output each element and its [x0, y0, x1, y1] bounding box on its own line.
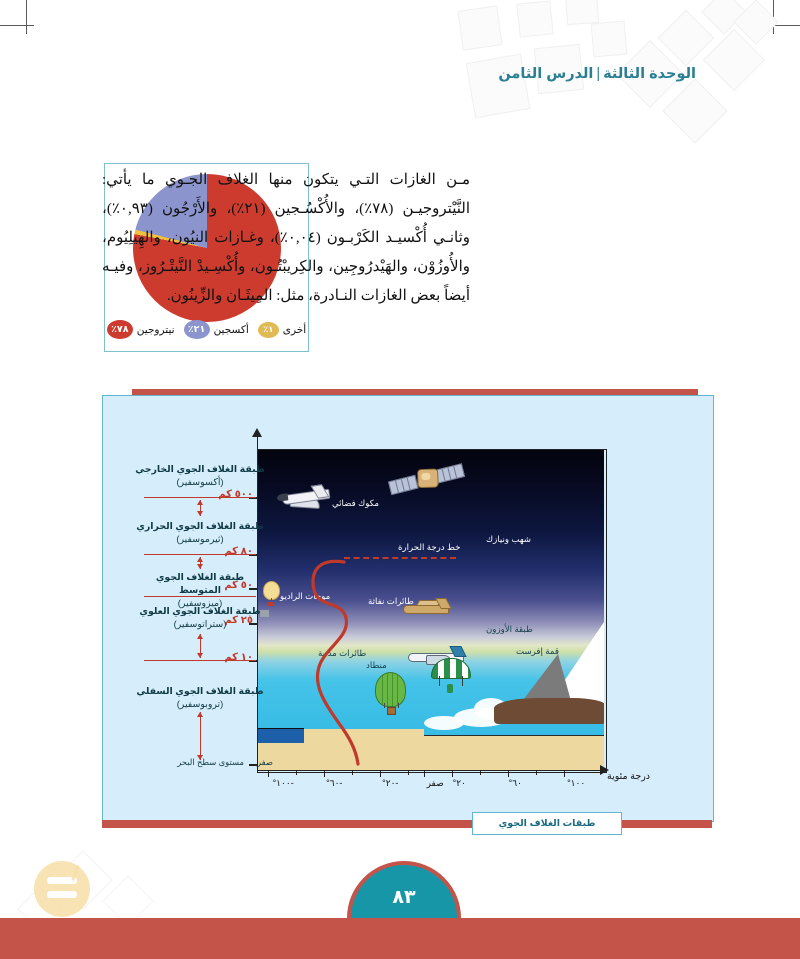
- layer-thermosphere-name: طبقة الغلاف الجوي الحراري: [134, 519, 266, 532]
- x-tick-minor-1: [296, 770, 297, 775]
- x-tick-1: [324, 770, 325, 777]
- x-tick-minor-5: [480, 770, 481, 775]
- x-tick-label-2: -٢٠°: [382, 778, 398, 789]
- x-tick-6: [564, 770, 565, 777]
- legend-dot-oxygen: ٢١٪: [184, 320, 210, 339]
- page-header: الوحدة الثالثة|الدرس الثامن: [498, 66, 696, 82]
- layer-divider-2: [144, 554, 256, 555]
- legend-dot-nitrogen: ٧٨٪: [107, 320, 133, 339]
- layer-stratosphere: طبقة الغلاف الجوي العلوي (ستراتوسفير): [134, 604, 266, 630]
- x-tick-minor-2: [352, 770, 353, 775]
- layer-divider-3: [144, 596, 256, 597]
- crop-mark-top-left-v: [26, 0, 27, 34]
- x-tick-5: [508, 770, 509, 777]
- footer-bar: [0, 918, 800, 959]
- legend-label-oxygen: أكسجين: [214, 324, 249, 336]
- x-tick-4: [452, 770, 453, 777]
- legend-item-other: أخرى ١٪: [258, 322, 306, 338]
- figure-caption-text: طبقات الغلاف الجوي: [499, 818, 596, 829]
- header-unit: الوحدة الثالثة: [603, 66, 696, 82]
- y-axis-arrow: [252, 428, 262, 437]
- x-tick-minor-3: [408, 770, 409, 775]
- x-tick-0: [268, 770, 269, 777]
- crop-mark-top-right: [766, 25, 800, 26]
- x-tick-label-6: ١٠٠°: [567, 778, 585, 789]
- temperature-curve: [258, 450, 604, 770]
- figure-caption: طبقات الغلاف الجوي: [472, 812, 622, 835]
- layer-divider-4: [144, 660, 256, 661]
- layer-troposphere: طبقة الغلاف الجوي السفلي (تروبوسفير): [134, 684, 266, 710]
- layer-exosphere: طبقة الغلاف الجوي الخارجي (أكسوسفير): [134, 462, 266, 488]
- legend-dot-other: ١٪: [258, 322, 279, 338]
- x-tick-minor-6: [536, 770, 537, 775]
- pie-chart-legend: أخرى ١٪ أكسجين ٢١٪ نيتروجين ٧٨٪: [113, 320, 300, 339]
- layer-arrow-2: [200, 557, 201, 569]
- x-tick-label-3: صفر: [427, 778, 444, 789]
- header-lesson: الدرس الثامن: [498, 66, 593, 82]
- x-tick-label-4: ٢٠°: [453, 778, 466, 789]
- layer-exosphere-alt: (أكسوسفير): [134, 475, 266, 488]
- page-number-badge: ٨٣: [347, 861, 461, 918]
- layer-thermosphere-alt: (ثيرموسفير): [134, 532, 266, 545]
- layer-divider-1: [144, 497, 256, 498]
- legend-label-other: أخرى: [283, 324, 306, 336]
- body-paragraph: مـن الغازات التـي يتكون منها الغلاف الجـ…: [102, 166, 470, 311]
- layer-troposphere-alt: (تروبوسفير): [134, 697, 266, 710]
- layer-mesosphere-name: طبقة الغلاف الجوي المتوسط: [134, 570, 266, 596]
- header-separator: |: [593, 66, 603, 82]
- x-tick-label-0: -١٠٠°: [273, 778, 294, 789]
- legend-item-oxygen: أكسجين ٢١٪: [184, 320, 249, 339]
- layer-arrow-1: [200, 500, 201, 516]
- publisher-logo-icon: [34, 861, 90, 917]
- alt-label-500: ٥٠٠ كم: [218, 489, 253, 500]
- layer-thermosphere: طبقة الغلاف الجوي الحراري (ثيرموسفير): [134, 519, 266, 545]
- x-tick-label-1: -٦٠°: [326, 778, 342, 789]
- atmosphere-scene: مكوك فضائي شهب ونيازك خط درجة الحرارة مو…: [258, 450, 604, 770]
- x-axis-label: درجة مئوية: [607, 771, 650, 782]
- layer-exosphere-name: طبقة الغلاف الجوي الخارجي: [134, 462, 266, 475]
- layer-stratosphere-name: طبقة الغلاف الجوي العلوي: [134, 604, 266, 617]
- layer-arrow-5: [200, 712, 201, 760]
- zero-altitude-label: صفر: [257, 757, 273, 767]
- x-tick-label-5: ٦٠°: [509, 778, 522, 789]
- x-tick-3: [424, 770, 425, 777]
- page-number: ٨٣: [392, 874, 415, 909]
- alt-label-10: ١٠ كم: [224, 652, 253, 663]
- legend-label-nitrogen: نيتروجين: [137, 324, 175, 336]
- crop-mark-top-left: [0, 25, 34, 26]
- x-tick-2: [380, 770, 381, 777]
- layer-troposphere-name: طبقة الغلاف الجوي السفلي: [134, 684, 266, 697]
- sea-level-label: مستوى سطح البحر: [177, 757, 244, 767]
- alt-label-80: ٨٠ كم: [224, 546, 253, 557]
- legend-item-nitrogen: نيتروجين ٧٨٪: [107, 320, 175, 339]
- crop-mark-top-right-v: [773, 0, 774, 34]
- x-axis-line: [258, 770, 604, 771]
- layer-arrow-4: [200, 634, 201, 658]
- layer-stratosphere-alt: (ستراتوسفير): [134, 617, 266, 630]
